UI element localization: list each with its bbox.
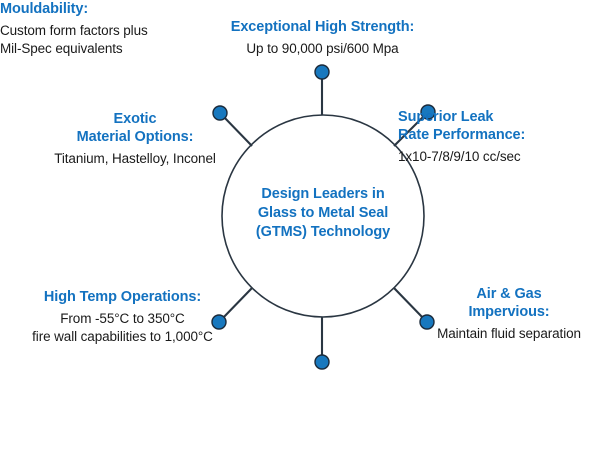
spoke-label-high-temp-operations: High Temp Operations: From -55°C to 350°…	[0, 288, 245, 346]
spoke-title-mouldability: Mouldability:	[0, 0, 148, 18]
spoke-title-high-temp-operations: High Temp Operations:	[0, 288, 245, 306]
spoke-body-line: 1x10-7/8/9/10 cc/sec	[398, 148, 598, 166]
spoke-title-line: Superior Leak	[398, 108, 598, 126]
spoke-body-exceptional-high-strength: Up to 90,000 psi/600 Mpa	[180, 40, 465, 58]
spoke-title-line: High Temp Operations:	[0, 288, 245, 306]
spoke-label-exceptional-high-strength: Exceptional High Strength: Up to 90,000 …	[180, 18, 465, 58]
spoke-title-line: Exotic	[10, 110, 260, 128]
spoke-body-line: Titanium, Hastelloy, Inconel	[10, 150, 260, 168]
spoke-title-superior-leak-rate-performance: Superior Leak Rate Performance:	[398, 108, 598, 144]
spoke-body-line: From -55°C to 350°C	[0, 310, 245, 328]
spoke-title-line: Material Options:	[10, 128, 260, 146]
spoke-body-mouldability: Custom form factors plus Mil-Spec equiva…	[0, 22, 148, 58]
spoke-body-superior-leak-rate-performance: 1x10-7/8/9/10 cc/sec	[398, 148, 598, 166]
center-label-line-2: Glass to Metal Seal	[223, 204, 423, 223]
center-label-line-3: (GTMS) Technology	[223, 223, 423, 242]
spoke-body-line: Mil-Spec equivalents	[0, 40, 148, 58]
spoke-body-line: Custom form factors plus	[0, 22, 148, 40]
center-label: Design Leaders in Glass to Metal Seal (G…	[223, 185, 423, 242]
spoke-label-mouldability: Mouldability: Custom form factors plus M…	[0, 0, 148, 58]
gtms-capabilities-diagram: Design Leaders in Glass to Metal Seal (G…	[0, 0, 600, 465]
spoke-title-line: Air & Gas	[418, 285, 600, 303]
center-label-line-1: Design Leaders in	[223, 185, 423, 204]
spoke-label-superior-leak-rate-performance: Superior Leak Rate Performance: 1x10-7/8…	[398, 108, 598, 166]
spoke-body-line: Maintain fluid separation	[418, 325, 600, 343]
spoke-title-line: Rate Performance:	[398, 126, 598, 144]
spoke-body-exotic-material-options: Titanium, Hastelloy, Inconel	[10, 150, 260, 168]
spoke-title-exotic-material-options: Exotic Material Options:	[10, 110, 260, 146]
spoke-body-air-and-gas-impervious: Maintain fluid separation	[418, 325, 600, 343]
spoke-label-air-and-gas-impervious: Air & Gas Impervious: Maintain fluid sep…	[418, 285, 600, 343]
spoke-body-line: Up to 90,000 psi/600 Mpa	[180, 40, 465, 58]
node-dot-exceptional-high-strength	[315, 65, 329, 79]
spoke-body-high-temp-operations: From -55°C to 350°C fire wall capabiliti…	[0, 310, 245, 346]
spoke-title-line: Impervious:	[418, 303, 600, 321]
node-dot-mouldability	[315, 355, 329, 369]
spoke-title-line: Mouldability:	[0, 0, 148, 18]
spoke-title-line: Exceptional High Strength:	[180, 18, 465, 36]
spoke-body-line: fire wall capabilities to 1,000°C	[0, 328, 245, 346]
spoke-title-exceptional-high-strength: Exceptional High Strength:	[180, 18, 465, 36]
spoke-title-air-and-gas-impervious: Air & Gas Impervious:	[418, 285, 600, 321]
spoke-label-exotic-material-options: Exotic Material Options: Titanium, Haste…	[10, 110, 260, 168]
